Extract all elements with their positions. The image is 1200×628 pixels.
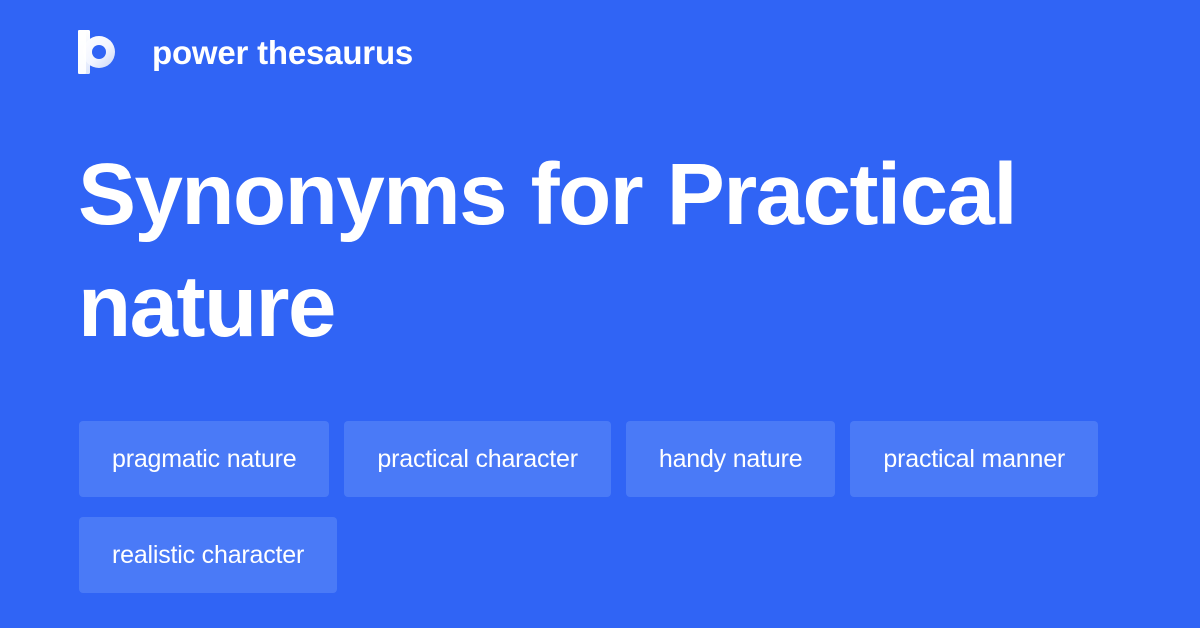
power-thesaurus-b-logo-icon: [78, 29, 122, 75]
synonym-chip[interactable]: realistic character: [79, 517, 337, 593]
synonym-chip[interactable]: pragmatic nature: [79, 421, 329, 497]
page-title: Synonyms for Practical nature: [78, 139, 1088, 363]
synonym-chip-list: pragmatic nature practical character han…: [79, 421, 1119, 593]
brand-name: power thesaurus: [152, 36, 413, 69]
brand-header[interactable]: power thesaurus: [78, 28, 413, 76]
synonyms-share-card: power thesaurus Synonyms for Practical n…: [0, 0, 1200, 628]
synonym-chip[interactable]: practical character: [344, 421, 610, 497]
synonym-chip[interactable]: handy nature: [626, 421, 836, 497]
synonym-chip[interactable]: practical manner: [850, 421, 1098, 497]
